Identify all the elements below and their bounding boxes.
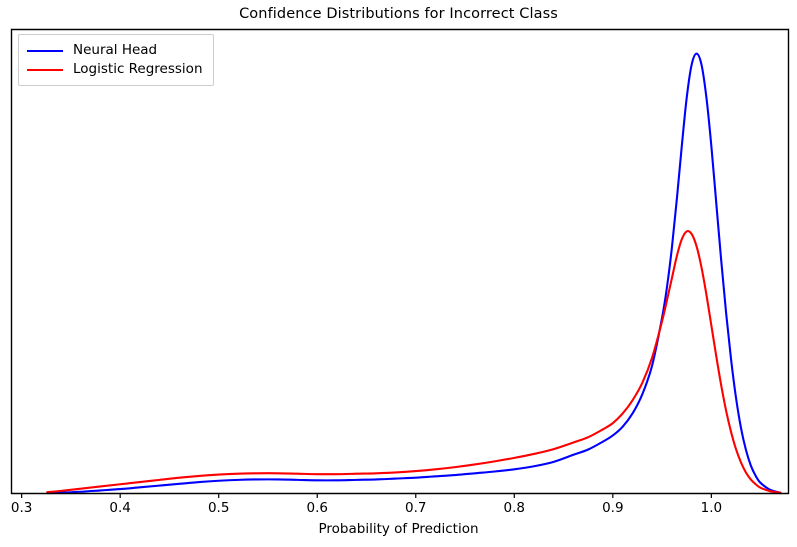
legend-item-neural-head[interactable]: Neural Head [27,41,203,60]
legend: Neural Head Logistic Regression [18,34,214,86]
series-line-logistic-regression [47,231,780,493]
x-tick-label: 0.6 [306,500,327,516]
legend-item-logistic-regression[interactable]: Logistic Regression [27,60,203,79]
series-group [47,54,780,493]
x-tick-label: 0.3 [11,500,32,516]
figure-canvas: Confidence Distributions for Incorrect C… [0,0,797,547]
axes-frame [12,30,789,494]
x-axis-label: Probability of Prediction [0,521,797,537]
legend-label-neural-head: Neural Head [73,41,157,60]
x-axis-ticks: 0.30.40.50.60.70.80.91.0 [11,494,722,517]
x-tick-label: 0.7 [405,500,426,516]
x-tick-label: 1.0 [701,500,722,516]
x-tick-label: 0.4 [109,500,130,516]
x-tick-label: 0.8 [504,500,525,516]
series-line-neural-head [47,54,780,493]
legend-swatch-logistic-regression [27,69,63,71]
x-tick-label: 0.9 [602,500,623,516]
legend-label-logistic-regression: Logistic Regression [73,60,203,79]
x-tick-label: 0.5 [208,500,229,516]
legend-swatch-neural-head [27,50,63,52]
